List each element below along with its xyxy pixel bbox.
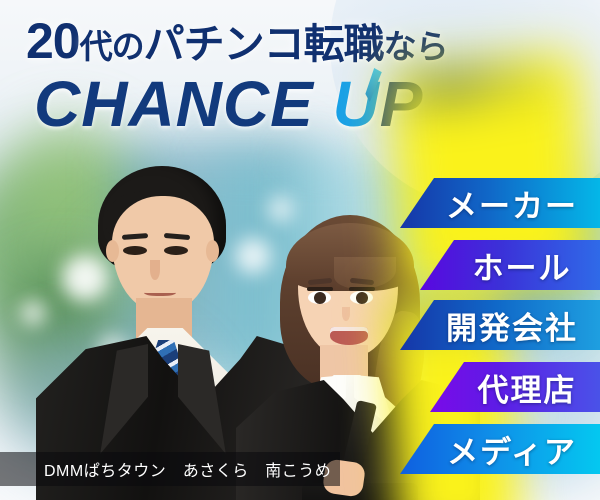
logo-word-chance: CHANCE bbox=[34, 68, 314, 140]
man-eye-right bbox=[164, 246, 188, 255]
credits-bar: DMMぱちタウン あさくら 南こうめ bbox=[0, 452, 340, 486]
woman-eye-right bbox=[350, 291, 373, 304]
credits-text: DMMぱちタウン あさくら 南こうめ bbox=[0, 457, 331, 481]
banner-advertisement[interactable]: 20代のパチンコ転職なら CHANCE UP 未経験でも チャンスあり！ メーカ… bbox=[0, 0, 600, 500]
woman-nose bbox=[342, 307, 350, 321]
category-label-maker: メーカー bbox=[422, 181, 578, 226]
man-ear-left bbox=[106, 240, 119, 262]
category-label-hall: ホール bbox=[449, 243, 572, 288]
category-button-maker[interactable]: メーカー bbox=[400, 178, 600, 228]
woman-smile bbox=[330, 327, 368, 345]
chance-up-logo: CHANCE UP bbox=[34, 72, 423, 136]
man-ear-right bbox=[206, 240, 219, 262]
headline-number: 20 bbox=[26, 13, 80, 69]
category-label-agency: 代理店 bbox=[454, 365, 577, 410]
headline-keyword: パチンコ転職 bbox=[144, 21, 384, 67]
man-mouth bbox=[144, 288, 176, 296]
man-eye-left bbox=[123, 246, 147, 255]
category-label-developer: 開発会社 bbox=[422, 303, 578, 348]
category-button-media[interactable]: メディア bbox=[400, 424, 600, 474]
woman-eye-left bbox=[308, 291, 331, 304]
category-label-media: メディア bbox=[423, 427, 577, 472]
headline-jp-mid: 代の bbox=[80, 28, 144, 65]
man-nose bbox=[150, 260, 160, 280]
logo-letter-u: U bbox=[333, 72, 380, 136]
category-button-developer[interactable]: 開発会社 bbox=[400, 300, 600, 350]
